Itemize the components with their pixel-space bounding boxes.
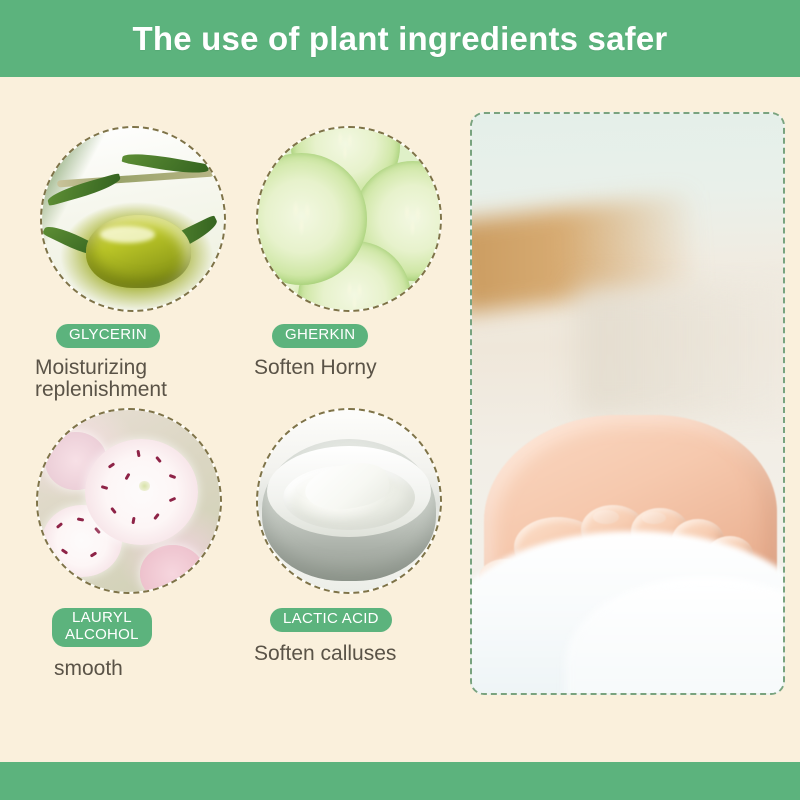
cucumber-seeds bbox=[342, 280, 367, 310]
flower-anther bbox=[101, 485, 109, 490]
ingredient-card-lauryl-alcohol: LAURYL ALCOHOL smooth bbox=[30, 408, 245, 679]
cucumber-seeds bbox=[287, 199, 316, 238]
flower-photo bbox=[38, 410, 220, 592]
ingredient-card-gherkin: GHERKIN Soften Horny bbox=[242, 126, 457, 379]
hero-photo-panel bbox=[470, 112, 785, 695]
ingredient-photo-frame bbox=[36, 408, 222, 594]
badge-row: LAURYL ALCOHOL bbox=[52, 608, 245, 647]
ingredient-photo-frame bbox=[256, 408, 442, 594]
ingredient-caption: Soften Horny bbox=[254, 357, 457, 379]
cucumber-photo bbox=[258, 128, 440, 310]
flower-center bbox=[139, 481, 149, 490]
olive-leaf bbox=[45, 172, 122, 206]
ingredient-caption: Soften calluses bbox=[254, 643, 457, 665]
flower-anther bbox=[168, 474, 176, 479]
ingredient-caption: Moisturizing replenishment bbox=[35, 357, 245, 401]
ingredient-card-lactic-acid: LACTIC ACID Soften calluses bbox=[242, 408, 457, 665]
olive-highlight bbox=[100, 226, 155, 242]
footer-banner bbox=[0, 762, 800, 800]
flower-anther bbox=[124, 473, 130, 481]
toenail bbox=[642, 512, 665, 524]
badge-row: GLYCERIN bbox=[56, 324, 245, 348]
ingredient-photo-frame bbox=[256, 126, 442, 312]
cucumber-seeds bbox=[333, 130, 357, 163]
hero-blurred-band bbox=[578, 288, 785, 415]
ingredient-badge: GHERKIN bbox=[272, 324, 368, 348]
ingredient-badge: GLYCERIN bbox=[56, 324, 160, 348]
badge-row: LACTIC ACID bbox=[270, 608, 457, 632]
flower-anther bbox=[56, 522, 63, 529]
flower-anther bbox=[77, 517, 84, 521]
flower-anther bbox=[132, 517, 136, 524]
flower-bloom bbox=[85, 439, 198, 545]
ingredient-caption: smooth bbox=[54, 658, 245, 680]
flower-anther bbox=[110, 507, 117, 514]
header-banner: The use of plant ingredients safer bbox=[0, 0, 800, 77]
flower-anther bbox=[108, 463, 115, 469]
flower-bloom bbox=[140, 545, 206, 592]
badge-row: GHERKIN bbox=[272, 324, 457, 348]
flower-anther bbox=[61, 548, 68, 554]
cucumber-seeds bbox=[399, 203, 425, 239]
flower-anther bbox=[155, 456, 162, 463]
flower-anther bbox=[89, 551, 97, 557]
cream-photo bbox=[258, 410, 440, 592]
olive-photo bbox=[42, 128, 224, 310]
ingredient-grid: GLYCERIN Moisturizing replenishment GHER… bbox=[0, 86, 460, 746]
ingredient-card-glycerin: GLYCERIN Moisturizing replenishment bbox=[30, 126, 245, 400]
ingredient-photo-frame bbox=[40, 126, 226, 312]
page-title: The use of plant ingredients safer bbox=[133, 20, 668, 58]
ingredient-badge: LACTIC ACID bbox=[270, 608, 392, 632]
promo-page: The use of plant ingredients safer GLYCE… bbox=[0, 0, 800, 800]
ingredient-badge: LAURYL ALCOHOL bbox=[52, 608, 152, 647]
flower-anther bbox=[168, 497, 176, 503]
toenail bbox=[593, 510, 619, 524]
flower-anther bbox=[153, 513, 160, 520]
flower-anther bbox=[136, 450, 140, 457]
